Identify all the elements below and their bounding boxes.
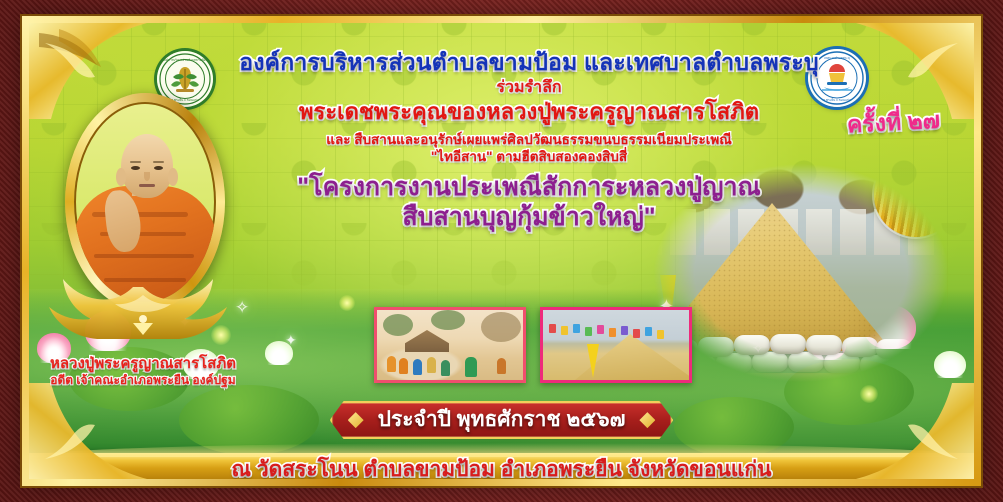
monk-title: อดีต เจ้าคณะอำเภอพระยืน องค์ปฐม	[37, 373, 249, 387]
golden-rice-stalks-inset	[874, 153, 958, 237]
venue-line: ณ วัดสระโนน ตำบลขามป้อม อำเภอพระยืน จังห…	[29, 457, 974, 482]
honoree-line: พระเดชพระคุณของหลวงปู่พระครูญาณสารโสภิต	[209, 99, 849, 125]
rice-pile-festival-photo[interactable]	[540, 307, 692, 383]
monk-photo	[74, 102, 216, 302]
project-line-2: สืบสานบุญกุ้มข้าวใหญ่"	[209, 202, 849, 232]
edition-badge: ครั้งที่ ๒๗	[846, 103, 941, 144]
mural-village-monks-photo[interactable]	[374, 307, 526, 383]
diamond-ornament-icon	[348, 412, 364, 428]
project-line-1: "โครงการงานประเพณีสักการะหลวงปู่ญาณ	[209, 172, 849, 202]
headline-text-block: องค์การบริหารส่วนตำบลขามป้อม และเทศบาลตำ…	[209, 49, 849, 232]
diamond-ornament-icon	[639, 412, 655, 428]
organizations-line: องค์การบริหารส่วนตำบลขามป้อม และเทศบาลตำ…	[209, 49, 849, 76]
photo-thumbnail-strip	[374, 307, 692, 383]
year-text: ประจำปี พุทธศักราช ๒๕๖๗	[378, 408, 626, 432]
year-ribbon: ประจำปี พุทธศักราช ๒๕๖๗	[330, 401, 674, 439]
monk-portrait-block: หลวงปู่พระครูญาณสารโสภิต อดีต เจ้าคณะอำเ…	[37, 93, 249, 393]
purpose-line-2: "ไทอีสาน" ตามฮีตสิบสองคองสิบสี่	[209, 149, 849, 166]
purpose-line-1: และ สืบสานและอนุรักษ์เผยแพร่ศิลปวัฒนธรรม…	[209, 132, 849, 149]
thai-gold-ornament	[37, 279, 249, 349]
svg-text:องค์การบริหารส่วนตำบลขามป้อม: องค์การบริหารส่วนตำบลขามป้อม	[163, 58, 208, 62]
festival-banner: ✦ ✦ ✧ ✦ ✦ ✧ ✦	[0, 0, 1003, 502]
gold-ornate-frame: ✦ ✦ ✧ ✦ ✦ ✧ ✦	[22, 16, 981, 486]
monk-head	[121, 134, 173, 198]
monk-caption: หลวงปู่พระครูญาณสารโสภิต อดีต เจ้าคณะอำเ…	[37, 355, 249, 387]
monk-name: หลวงปู่พระครูญาณสารโสภิต	[37, 355, 249, 373]
commemorate-label: ร่วมรำลึก	[209, 79, 849, 97]
